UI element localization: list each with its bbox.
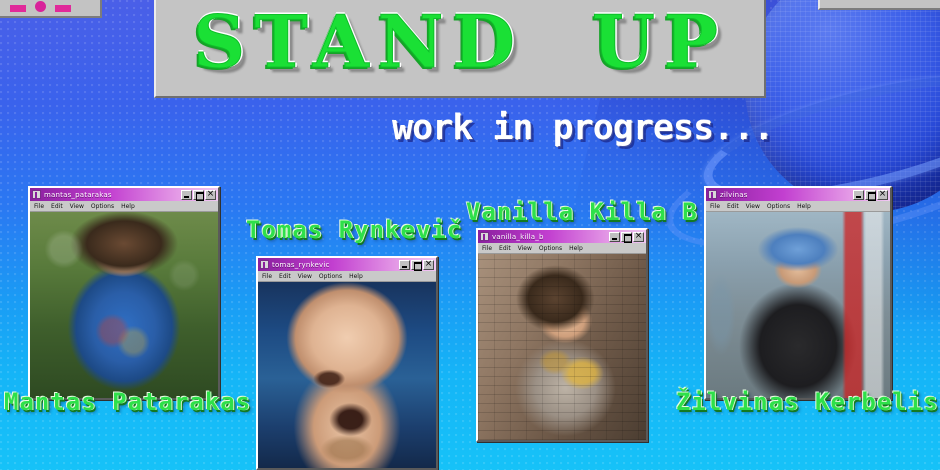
pink-bar-icon-2 bbox=[55, 5, 71, 12]
minimize-button[interactable] bbox=[853, 190, 864, 200]
window-vanilla[interactable]: vanilla_killa_b File Edit View Options H… bbox=[476, 228, 648, 442]
top-left-toolbar-fragment bbox=[0, 0, 102, 18]
window-mantas[interactable]: mantas_patarakas File Edit View Options … bbox=[28, 186, 220, 400]
planet-grid-texture bbox=[745, 0, 940, 212]
top-right-toolbar-fragment bbox=[818, 0, 940, 10]
menu-item-view[interactable]: View bbox=[298, 273, 312, 280]
window-body-vanilla bbox=[478, 254, 646, 440]
minimize-button[interactable] bbox=[609, 232, 620, 242]
menu-item-view[interactable]: View bbox=[70, 203, 84, 210]
close-button[interactable] bbox=[423, 260, 434, 270]
window-app-icon bbox=[32, 190, 41, 199]
name-label-mantas: Mantas Patarakas bbox=[4, 388, 251, 416]
name-label-zilvinas: Žilvinas Kerbelis bbox=[676, 388, 939, 416]
menu-item-options[interactable]: Options bbox=[539, 245, 562, 252]
photo-tomas-rynkevic bbox=[258, 282, 436, 468]
slide-canvas: STAND UP work in progress... mantas_pata… bbox=[0, 0, 940, 470]
menu-item-file[interactable]: File bbox=[34, 203, 44, 210]
window-menubar-vanilla[interactable]: File Edit View Options Help bbox=[478, 243, 646, 254]
menu-item-help[interactable]: Help bbox=[349, 273, 363, 280]
maximize-button[interactable] bbox=[193, 190, 204, 200]
window-app-icon bbox=[480, 232, 489, 241]
minimize-button[interactable] bbox=[399, 260, 410, 270]
photo-mantas-patarakas bbox=[30, 212, 218, 398]
menu-item-options[interactable]: Options bbox=[767, 203, 790, 210]
menu-item-options[interactable]: Options bbox=[91, 203, 114, 210]
window-menubar-zilvinas[interactable]: File Edit View Options Help bbox=[706, 201, 890, 212]
title-banner: STAND UP bbox=[154, 0, 766, 98]
window-titlebar-tomas[interactable]: tomas_rynkevic bbox=[258, 258, 436, 271]
window-title-text-vanilla: vanilla_killa_b bbox=[492, 233, 606, 241]
window-zilvinas[interactable]: zilvinas File Edit View Options Help bbox=[704, 186, 892, 400]
menu-item-file[interactable]: File bbox=[710, 203, 720, 210]
window-controls-mantas[interactable] bbox=[181, 190, 216, 200]
menu-item-file[interactable]: File bbox=[482, 245, 492, 252]
window-title-text-tomas: tomas_rynkevic bbox=[272, 261, 396, 269]
pink-dot-icon bbox=[35, 1, 46, 12]
window-controls-tomas[interactable] bbox=[399, 260, 434, 270]
menu-item-view[interactable]: View bbox=[746, 203, 760, 210]
page-subtitle: work in progress... bbox=[392, 108, 773, 148]
window-menubar-mantas[interactable]: File Edit View Options Help bbox=[30, 201, 218, 212]
photo-zilvinas-kerbelis bbox=[706, 212, 890, 398]
window-titlebar-vanilla[interactable]: vanilla_killa_b bbox=[478, 230, 646, 243]
minimize-button[interactable] bbox=[181, 190, 192, 200]
window-body-mantas bbox=[30, 212, 218, 398]
close-button[interactable] bbox=[633, 232, 644, 242]
close-button[interactable] bbox=[205, 190, 216, 200]
menu-item-edit[interactable]: Edit bbox=[51, 203, 63, 210]
menu-item-edit[interactable]: Edit bbox=[727, 203, 739, 210]
window-title-text-mantas: mantas_patarakas bbox=[44, 191, 178, 199]
window-title-text-zilvinas: zilvinas bbox=[720, 191, 850, 199]
window-titlebar-mantas[interactable]: mantas_patarakas bbox=[30, 188, 218, 201]
menu-item-view[interactable]: View bbox=[518, 245, 532, 252]
window-app-icon bbox=[708, 190, 717, 199]
maximize-button[interactable] bbox=[411, 260, 422, 270]
window-body-tomas bbox=[258, 282, 436, 468]
menu-item-help[interactable]: Help bbox=[797, 203, 811, 210]
name-label-vanilla: Vanilla Killa B bbox=[466, 198, 698, 226]
window-controls-zilvinas[interactable] bbox=[853, 190, 888, 200]
planet-sphere-graphic bbox=[745, 0, 940, 212]
planet-body bbox=[745, 0, 940, 212]
window-menubar-tomas[interactable]: File Edit View Options Help bbox=[258, 271, 436, 282]
menu-item-edit[interactable]: Edit bbox=[279, 273, 291, 280]
page-title: STAND UP bbox=[193, 6, 727, 84]
window-body-zilvinas bbox=[706, 212, 890, 398]
name-label-tomas: Tomas Rynkevič bbox=[246, 216, 462, 244]
pink-bar-icon bbox=[10, 5, 26, 12]
menu-item-help[interactable]: Help bbox=[569, 245, 583, 252]
window-app-icon bbox=[260, 260, 269, 269]
menu-item-edit[interactable]: Edit bbox=[499, 245, 511, 252]
close-button[interactable] bbox=[877, 190, 888, 200]
window-titlebar-zilvinas[interactable]: zilvinas bbox=[706, 188, 890, 201]
maximize-button[interactable] bbox=[865, 190, 876, 200]
menu-item-options[interactable]: Options bbox=[319, 273, 342, 280]
window-tomas[interactable]: tomas_rynkevic File Edit View Options He… bbox=[256, 256, 438, 470]
window-controls-vanilla[interactable] bbox=[609, 232, 644, 242]
menu-item-help[interactable]: Help bbox=[121, 203, 135, 210]
maximize-button[interactable] bbox=[621, 232, 632, 242]
menu-item-file[interactable]: File bbox=[262, 273, 272, 280]
photo-vanilla-killa-b bbox=[478, 254, 646, 440]
